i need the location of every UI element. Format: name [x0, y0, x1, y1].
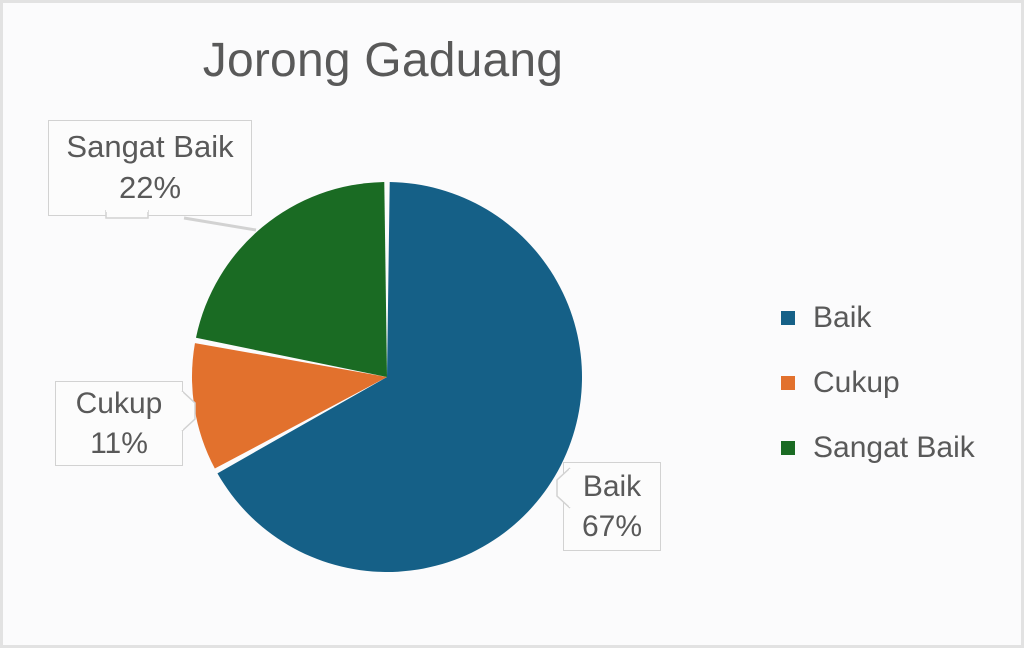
- legend-label-2: Sangat Baik: [813, 431, 975, 465]
- callout-notch-baik: [547, 466, 573, 512]
- legend-item-1[interactable]: Cukup: [781, 350, 1011, 415]
- callout-notch-cukup: [179, 389, 205, 435]
- leader-line-sangat-baik: [184, 218, 256, 230]
- data-label-cukup-text: Cukup: [76, 384, 163, 424]
- legend-label-1: Cukup: [813, 366, 900, 400]
- callout-notch-sangat-baik: [98, 209, 158, 231]
- legend-swatch-icon-1: [781, 376, 795, 390]
- chart-container: Jorong Gaduang Sangat Baik 22% Cukup 11%…: [0, 0, 1024, 648]
- legend-label-0: Baik: [813, 301, 871, 335]
- data-label-baik-text: Baik: [583, 467, 641, 507]
- legend-item-2[interactable]: Sangat Baik: [781, 415, 1011, 480]
- legend-item-0[interactable]: Baik: [781, 285, 1011, 350]
- legend: Baik Cukup Sangat Baik: [781, 285, 1011, 480]
- data-label-baik: Baik 67%: [563, 462, 661, 551]
- data-label-baik-value: 67%: [582, 507, 642, 547]
- data-label-cukup-value: 11%: [90, 424, 148, 464]
- data-label-sangat-baik-value: 22%: [119, 168, 181, 209]
- legend-swatch-icon-0: [781, 311, 795, 325]
- data-label-sangat-baik: Sangat Baik 22%: [48, 120, 252, 216]
- data-label-cukup: Cukup 11%: [55, 381, 183, 466]
- legend-swatch-icon-2: [781, 441, 795, 455]
- data-label-sangat-baik-text: Sangat Baik: [66, 127, 233, 168]
